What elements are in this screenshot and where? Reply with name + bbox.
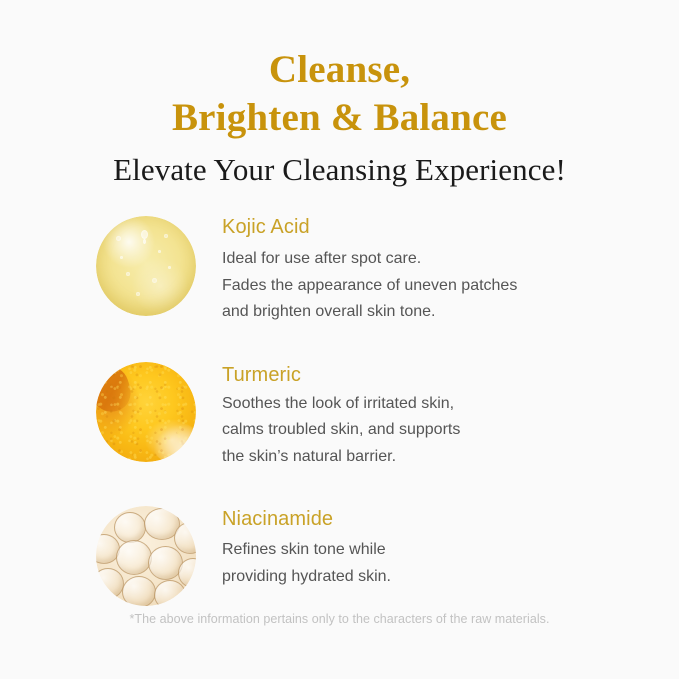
turmeric-powder-icon: [96, 362, 196, 462]
list-item: Kojic Acid Ideal for use after spot care…: [0, 214, 679, 326]
ingredient-name: Kojic Acid: [222, 214, 517, 240]
ingredient-text-block: Kojic Acid Ideal for use after spot care…: [196, 214, 517, 326]
cream-bubbles-icon: [96, 506, 196, 606]
description-line: Soothes the look of irritated skin,: [222, 391, 460, 418]
description-line: Ideal for use after spot care.: [222, 246, 517, 273]
description-line: the skin’s natural barrier.: [222, 444, 460, 471]
page-title: Cleanse, Brighten & Balance: [0, 46, 679, 142]
description-line: and brighten overall skin tone.: [222, 299, 517, 326]
list-item: Turmeric Soothes the look of irritated s…: [0, 362, 679, 471]
description-line: calms troubled skin, and supports: [222, 417, 460, 444]
description-line: Refines skin tone while: [222, 537, 391, 564]
powder-highlight: [152, 422, 196, 462]
ingredient-description: Ideal for use after spot care. Fades the…: [222, 246, 517, 326]
ingredient-name: Niacinamide: [222, 506, 391, 532]
list-item: Niacinamide Refines skin tone while prov…: [0, 506, 679, 606]
description-line: Fades the appearance of uneven patches: [222, 273, 517, 300]
niacinamide-bubbles-swatch: [96, 506, 196, 606]
page-subtitle: Elevate Your Cleansing Experience!: [0, 150, 679, 190]
footnote-disclaimer: *The above information pertains only to …: [0, 611, 679, 628]
ingredient-text-block: Turmeric Soothes the look of irritated s…: [196, 362, 460, 471]
turmeric-powder-swatch: [96, 362, 196, 462]
serum-droplet-icon: [96, 216, 196, 316]
header-block: Cleanse, Brighten & Balance Elevate Your…: [0, 46, 679, 190]
ingredient-description: Refines skin tone while providing hydrat…: [222, 537, 391, 590]
product-infographic-page: Cleanse, Brighten & Balance Elevate Your…: [0, 0, 679, 679]
ingredient-description: Soothes the look of irritated skin, calm…: [222, 391, 460, 471]
kojic-acid-serum-swatch: [96, 216, 196, 316]
ingredient-list: Kojic Acid Ideal for use after spot care…: [0, 214, 679, 606]
page-title-line-1: Cleanse,: [0, 46, 679, 94]
page-title-line-2: Brighten & Balance: [0, 94, 679, 142]
ingredient-text-block: Niacinamide Refines skin tone while prov…: [196, 506, 391, 590]
description-line: providing hydrated skin.: [222, 564, 391, 591]
ingredient-name: Turmeric: [222, 362, 460, 388]
